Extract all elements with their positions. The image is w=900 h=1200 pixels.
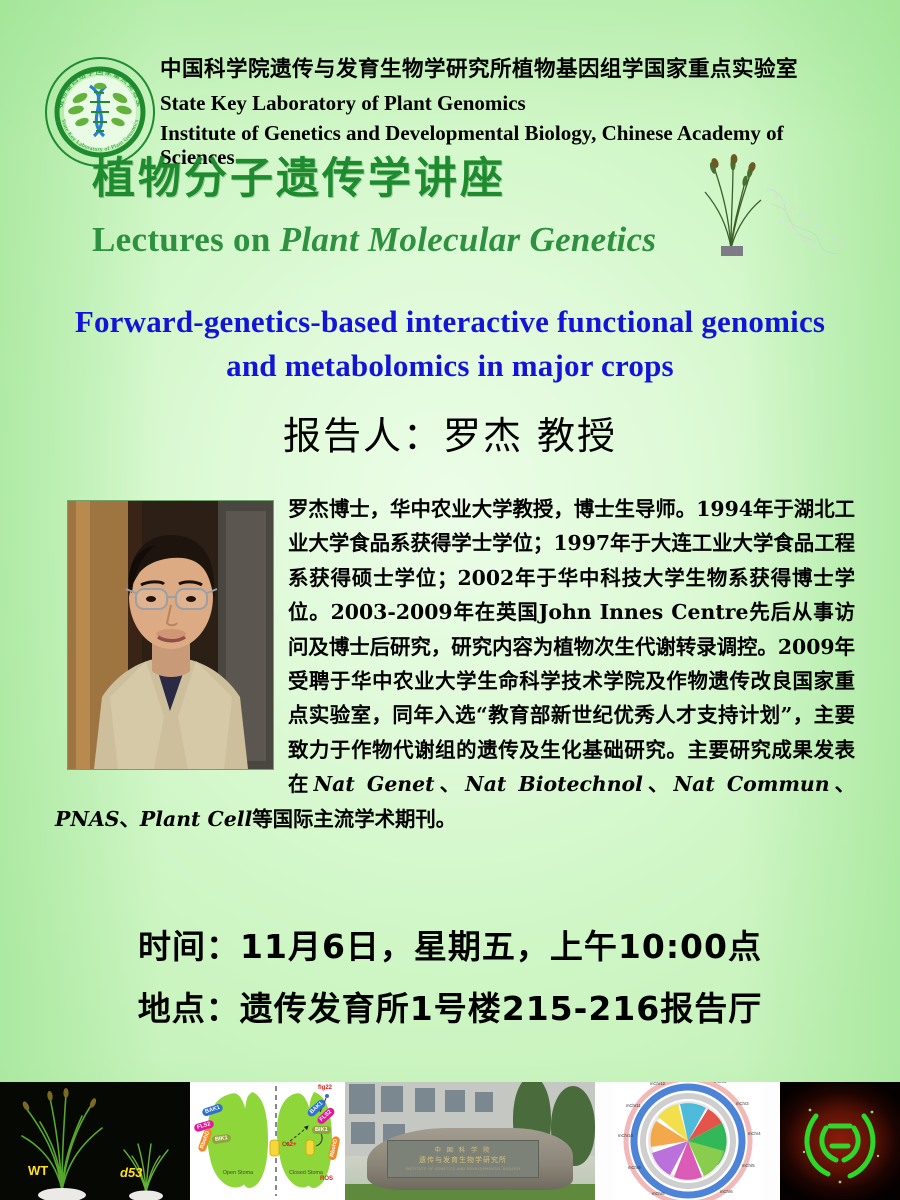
speaker-photo [67, 500, 274, 770]
poster-page: 植物基因组学国家重点实验室 State Key Laboratory of Pl… [0, 0, 900, 1200]
speaker-line: 报告人：罗杰 教授 [0, 405, 900, 460]
event-venue-line: 地点：遗传发育所1号楼215-216报告厅 [0, 992, 900, 1025]
circos-genome-plot-image: mChr1 mChr2 mChr3 mChr4 mChr5 mChr6 mChr… [613, 1082, 763, 1200]
header-line-english-1: State Key Laboratory of Plant Genomics [160, 91, 860, 115]
label-flg22: flg22 [318, 1085, 332, 1091]
caption-closed-stoma: Closed Stoma [284, 1170, 328, 1177]
panel-fluorescence-image [780, 1082, 900, 1200]
lab-emblem-icon: 植物基因组学国家重点实验室 State Key Laboratory of Pl… [44, 56, 156, 168]
journal-sep-1: 、 [643, 772, 674, 796]
journal-name-3: PNAS [55, 807, 120, 831]
journal-name-4: Plant Cell [140, 807, 252, 831]
svg-text:mChr3: mChr3 [736, 1101, 749, 1106]
speaker-portrait-image [68, 501, 273, 769]
tag-bik1-right: BIK1 [312, 1126, 331, 1134]
label-d53: d53 [120, 1165, 142, 1180]
svg-text:mChr9: mChr9 [628, 1165, 641, 1170]
plaque-line-1: 中 国 科 学 院 [388, 1145, 538, 1154]
building-window [381, 1086, 403, 1112]
series-title-english-italic: Plant Molecular Genetics [280, 220, 657, 259]
series-title-english-prefix: Lectures on [92, 220, 280, 259]
svg-text:mChr5: mChr5 [742, 1163, 755, 1168]
lecture-title-line-2: and metabolomics in major crops [22, 344, 878, 388]
biography-block: 罗杰博士，华中农业大学教授，博士生导师。1994年于湖北工业大学食品系获得学士学… [55, 492, 855, 836]
lecture-title-line-1: Forward-genetics-based interactive funct… [22, 300, 878, 344]
rice-plant-dna-icon [689, 148, 864, 260]
label-wt: WT [28, 1163, 48, 1178]
plaque-line-2: 遗传与发育生物学研究所 [388, 1155, 538, 1165]
event-time-line: 时间：11月6日，星期五，上午10:00点 [0, 930, 900, 963]
panel-stomata-diagram: BAK1 FLS2 RbohD BIK1 BAK1 FLS2 BIK1 Rboh… [190, 1082, 345, 1200]
series-title-english: Lectures on Plant Molecular Genetics [92, 220, 656, 260]
panel-rice-phenotype: WT d53 [0, 1082, 190, 1200]
biography-paragraph-tail: 等国际主流学术期刊。 [252, 807, 456, 831]
lab-logo: 植物基因组学国家重点实验室 State Key Laboratory of Pl… [44, 56, 156, 168]
label-calcium: Ca2+ [282, 1142, 297, 1148]
fluorescence-signal-overlay [780, 1082, 900, 1200]
header-line-chinese: 中国科学院遗传与发育生物学研究所植物基因组学国家重点实验室 [160, 58, 860, 82]
institute-plaque: 中 国 科 学 院 遗传与发育生物学研究所 INSTITUTE OF GENET… [387, 1140, 539, 1178]
plaque-line-3: INSTITUTE OF GENETICS AND DEVELOPMENTAL … [388, 1167, 538, 1171]
caption-open-stoma: Open Stoma [218, 1170, 258, 1177]
svg-text:mChr8: mChr8 [652, 1191, 665, 1196]
lecture-title: Forward-genetics-based interactive funct… [22, 300, 878, 388]
journal-sep-0: 、 [435, 772, 466, 796]
journal-sep-2: 、 [830, 772, 855, 796]
journal-name-1: Nat Biotechnol [465, 772, 643, 796]
panel-circos-plot: mChr1 mChr2 mChr3 mChr4 mChr5 mChr6 mChr… [595, 1082, 780, 1200]
rice-plant-decoration [689, 148, 864, 260]
poster-header: 植物基因组学国家重点实验室 State Key Laboratory of Pl… [0, 24, 900, 144]
series-title-chinese: 植物分子遗传学讲座 [92, 158, 506, 201]
svg-text:mChr12: mChr12 [650, 1082, 666, 1086]
svg-text:mChr6: mChr6 [720, 1189, 733, 1194]
svg-text:mChr11: mChr11 [626, 1103, 641, 1108]
building-window [445, 1090, 465, 1112]
panel-institute-entrance: 中 国 科 学 院 遗传与发育生物学研究所 INSTITUTE OF GENET… [345, 1082, 595, 1200]
footer-image-strip: WT d53 [0, 1082, 900, 1200]
rice-phenotype-image [0, 1082, 190, 1200]
biography-paragraph: 罗杰博士，华中农业大学教授，博士生导师。1994年于湖北工业大学食品系获得学士学… [288, 497, 855, 796]
journal-sep-3: 、 [120, 807, 140, 831]
journal-name-0: Nat Genet [313, 772, 434, 796]
svg-text:mChr2: mChr2 [714, 1082, 727, 1084]
building-window [415, 1088, 435, 1112]
building-window [475, 1092, 493, 1112]
svg-text:mChr10: mChr10 [618, 1133, 634, 1138]
building-window [349, 1084, 375, 1114]
building-window [351, 1122, 375, 1144]
svg-text:mChr4: mChr4 [748, 1131, 761, 1136]
label-ros: ROS [320, 1176, 333, 1182]
journal-name-2: Nat Commun [673, 772, 829, 796]
